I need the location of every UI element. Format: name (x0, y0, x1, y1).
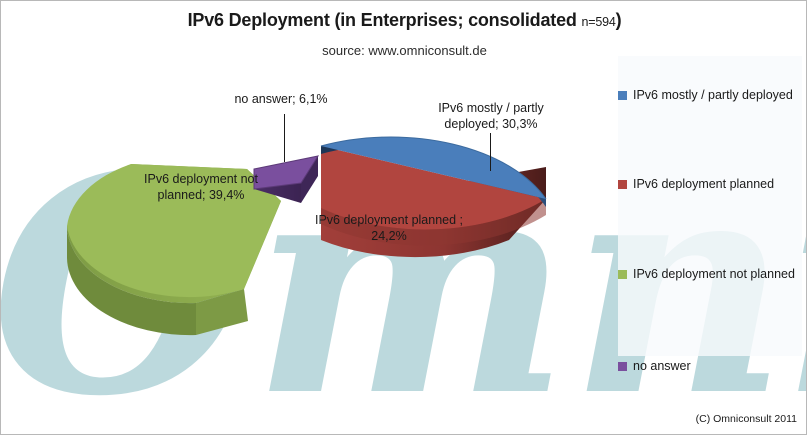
chart-title-sample-size: n=594 (582, 15, 616, 29)
slice-label-not-planned-line2: planned; 39,4% (106, 187, 296, 203)
legend-swatch-icon-not-planned (618, 270, 627, 279)
chart-title: IPv6 Deployment (in Enterprises; consoli… (1, 10, 807, 31)
legend-label-planned: IPv6 deployment planned (633, 177, 774, 191)
slice-label-not-planned: IPv6 deployment not planned; 39,4% (106, 171, 296, 203)
legend-item-mostly-deployed[interactable]: IPv6 mostly / partly deployed (618, 88, 793, 102)
chart-canvas: Omniconsult IPv6 Deployment (in Enterpri… (0, 0, 807, 435)
legend-label-no-answer: no answer (633, 359, 691, 373)
leader-line-no-answer (284, 114, 285, 162)
legend-item-no-answer[interactable]: no answer (618, 359, 691, 373)
legend-swatch-icon-planned (618, 180, 627, 189)
slice-label-mostly-deployed: IPv6 mostly / partly deployed; 30,3% (396, 100, 586, 132)
chart-title-close-paren: ) (616, 10, 622, 30)
legend-swatch-icon-no-answer (618, 362, 627, 371)
slice-label-no-answer: no answer; 6,1% (191, 91, 371, 107)
slice-label-planned: IPv6 deployment planned ; 24,2% (289, 212, 489, 244)
legend-swatch-icon-mostly-deployed (618, 91, 627, 100)
slice-label-no-answer-line1: no answer; 6,1% (191, 91, 371, 107)
legend-label-mostly-deployed: IPv6 mostly / partly deployed (633, 88, 793, 102)
slice-label-not-planned-line1: IPv6 deployment not (106, 171, 296, 187)
slice-label-mostly-line2: deployed; 30,3% (396, 116, 586, 132)
leader-line-mostly-deployed (490, 133, 491, 171)
slice-label-planned-line1: IPv6 deployment planned ; (289, 212, 489, 228)
slice-label-mostly-line1: IPv6 mostly / partly (396, 100, 586, 116)
copyright-notice: (C) Omniconsult 2011 (696, 413, 797, 425)
legend-label-not-planned: IPv6 deployment not planned (633, 267, 795, 281)
slice-label-planned-line2: 24,2% (289, 228, 489, 244)
chart-legend: IPv6 mostly / partly deployed IPv6 deplo… (618, 56, 807, 366)
legend-item-not-planned[interactable]: IPv6 deployment not planned (618, 267, 795, 281)
legend-item-planned[interactable]: IPv6 deployment planned (618, 177, 774, 191)
chart-title-main: IPv6 Deployment (in Enterprises; consoli… (188, 10, 582, 30)
